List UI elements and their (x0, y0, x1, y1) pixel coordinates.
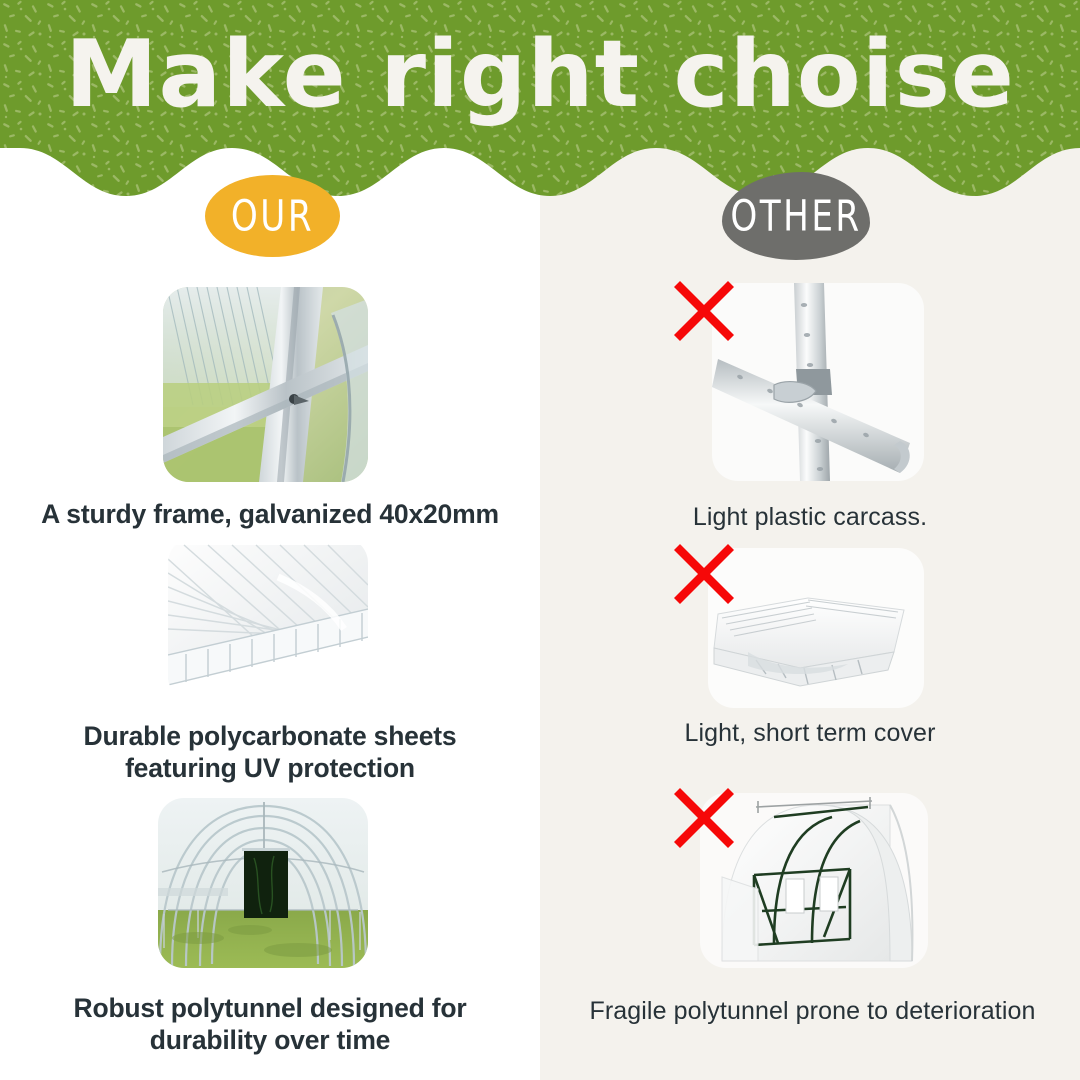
red-x-icon-3 (668, 782, 740, 854)
left-item-3-caption-line-1: Robust polytunnel designed for (20, 992, 520, 1024)
left-item-2-caption-line-1: Durable polycarbonate sheets (20, 720, 520, 752)
folded-white-cover-photo (708, 548, 924, 708)
infographic-stage: Make right choise OUR OTHER (0, 0, 1080, 1080)
badge-other-label: OTHER (730, 191, 861, 240)
right-item-1-caption: Light plastic carcass. (560, 502, 1060, 533)
red-x-icon-2 (668, 538, 740, 610)
polycarbonate-sheet-photo (168, 537, 368, 702)
left-item-2-caption-line-2: featuring UV protection (20, 752, 520, 784)
left-item-2-caption: Durable polycarbonate sheets featuring U… (20, 720, 520, 785)
galvanized-steel-frame-photo (163, 287, 368, 482)
badge-our-label: OUR (231, 191, 314, 240)
right-item-2-caption: Light, short term cover (560, 718, 1060, 749)
thin-plastic-tube-joint-photo (712, 283, 924, 481)
right-item-3-caption: Fragile polytunnel prone to deterioratio… (545, 996, 1080, 1027)
left-item-1-caption: A sturdy frame, galvanized 40x20mm (10, 498, 530, 530)
badge-our: OUR (205, 175, 340, 257)
page-title: Make right choise (0, 26, 1080, 124)
header-banner: Make right choise (0, 0, 1080, 200)
red-x-icon-1 (668, 275, 740, 347)
left-item-3-caption-line-2: durability over time (20, 1024, 520, 1056)
polytunnel-interior-photo (158, 798, 368, 968)
left-item-3-caption: Robust polytunnel designed for durabilit… (20, 992, 520, 1057)
